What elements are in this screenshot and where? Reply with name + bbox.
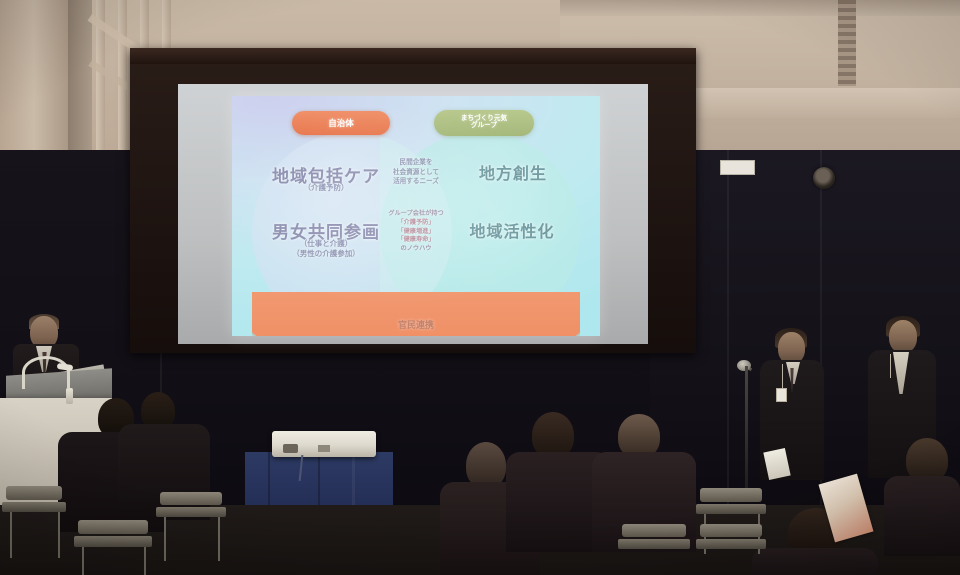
panelist-1-name-badge bbox=[776, 388, 787, 402]
right-item2-title: 地域活性化 bbox=[432, 218, 592, 242]
wall-vent bbox=[838, 0, 856, 86]
chair-back[interactable] bbox=[6, 486, 62, 500]
wall-slat bbox=[118, 0, 127, 150]
bottom-banner-label: 官民連携 bbox=[252, 318, 580, 331]
chair-leg bbox=[82, 547, 84, 575]
chair-back[interactable] bbox=[160, 492, 222, 505]
projector-lens-icon bbox=[283, 444, 298, 453]
right-item1-title: 地方創生 bbox=[438, 160, 588, 184]
overlap-bottom-line5: のノウハウ bbox=[374, 245, 458, 254]
projector-vent bbox=[318, 445, 330, 452]
chair-seat[interactable] bbox=[696, 539, 766, 549]
chair-seat[interactable] bbox=[696, 504, 766, 514]
panelist-2-lanyard bbox=[890, 354, 891, 378]
wall-speaker-icon bbox=[813, 167, 835, 189]
chair-back[interactable] bbox=[622, 524, 686, 537]
chair-leg bbox=[144, 547, 146, 575]
chair-leg bbox=[10, 512, 12, 558]
audience-body bbox=[884, 476, 960, 556]
chair-leg bbox=[218, 517, 220, 561]
chair-seat[interactable] bbox=[74, 536, 152, 547]
water-bottle bbox=[66, 388, 73, 404]
chair-back[interactable] bbox=[78, 520, 148, 534]
panelist-1-lanyard bbox=[782, 364, 783, 390]
presentation-photo: 自治体 まちづくり元気 グループ 地域包括ケア （介護予防） 男女共同参画 （仕… bbox=[0, 0, 960, 575]
projection-screen-header bbox=[130, 48, 696, 64]
audience-body bbox=[752, 548, 878, 575]
standing-microphone-icon bbox=[737, 360, 751, 371]
bottom-banner: 官民連携 bbox=[252, 292, 580, 336]
chair-seat[interactable] bbox=[2, 502, 66, 512]
chair-back[interactable] bbox=[700, 488, 762, 502]
chair-seat[interactable] bbox=[618, 539, 690, 549]
pill-local-government-label: 自治体 bbox=[328, 119, 354, 128]
pill-group-label-line2: グループ bbox=[461, 123, 507, 130]
projected-slide: 自治体 まちづくり元気 グループ 地域包括ケア （介護予防） 男女共同参画 （仕… bbox=[232, 96, 600, 336]
chair-seat[interactable] bbox=[156, 507, 226, 517]
chair-leg bbox=[58, 512, 60, 558]
chair-leg bbox=[164, 517, 166, 561]
panelist-2-head bbox=[889, 320, 917, 353]
audience-body bbox=[592, 452, 696, 552]
pill-local-government: 自治体 bbox=[292, 111, 390, 135]
wall-sign bbox=[720, 160, 755, 175]
gooseneck-microphone bbox=[22, 356, 70, 389]
chair-back[interactable] bbox=[700, 524, 762, 537]
audience-body bbox=[118, 424, 210, 520]
curtain-seam bbox=[727, 150, 729, 510]
microphone-stand bbox=[745, 366, 748, 498]
wall-pillar-left-inner bbox=[68, 0, 92, 170]
ceiling-beam-upper bbox=[560, 0, 960, 16]
pill-machizukuri-group: まちづくり元気 グループ bbox=[434, 110, 534, 136]
